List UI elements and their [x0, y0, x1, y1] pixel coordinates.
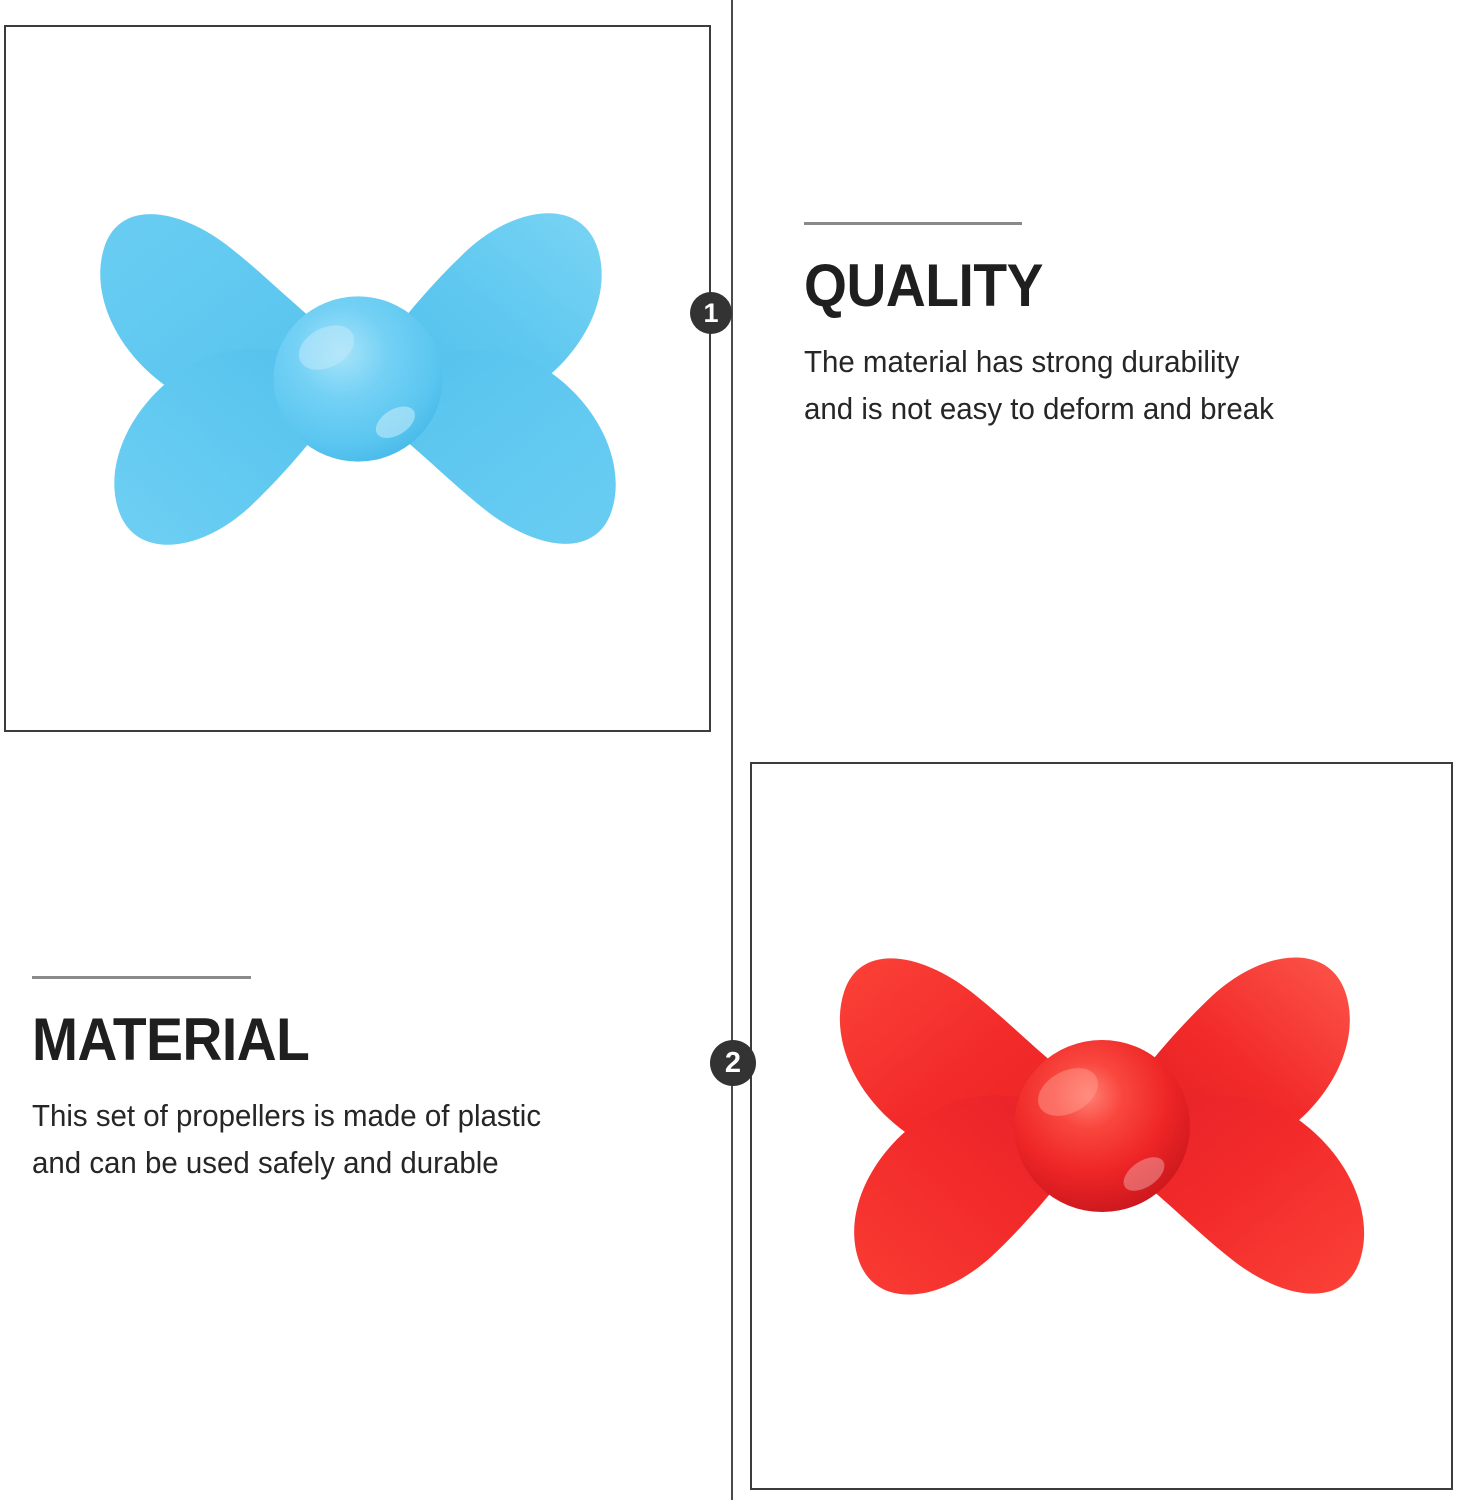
photo-stage-red — [752, 764, 1451, 1488]
feature-rule-quality — [804, 222, 1022, 225]
feature-rule-material — [32, 976, 251, 979]
feature-body-material-line-2: and can be used safely and durable — [32, 1145, 499, 1180]
photo-frame-red-propeller — [750, 762, 1453, 1490]
feature-badge-1: 1 — [690, 292, 732, 334]
red-propeller-image — [802, 826, 1402, 1426]
propeller-hub — [1014, 1040, 1190, 1212]
feature-body-quality: The material has strong durability and i… — [804, 338, 1374, 432]
feature-body-material: This set of propellers is made of plasti… — [32, 1092, 631, 1186]
photo-stage-blue — [6, 27, 709, 730]
blue-propeller-image — [63, 84, 653, 674]
connector-spine-line — [731, 0, 733, 1500]
feature-title-quality: QUALITY — [804, 255, 1356, 316]
feature-body-quality-line-1: The material has strong durability — [804, 344, 1239, 379]
feature-body-material-line-1: This set of propellers is made of plasti… — [32, 1098, 541, 1133]
feature-block-material: MATERIAL This set of propellers is made … — [32, 976, 662, 1186]
feature-block-quality: QUALITY The material has strong durabili… — [804, 222, 1404, 432]
feature-body-quality-line-2: and is not easy to deform and break — [804, 391, 1274, 426]
feature-title-material: MATERIAL — [32, 1009, 612, 1070]
feature-badge-2: 2 — [710, 1040, 756, 1086]
feature-badge-1-number: 1 — [703, 300, 718, 327]
photo-frame-blue-propeller — [4, 25, 711, 732]
infographic-page: 1 QUALITY The material has strong durabi… — [0, 0, 1459, 1500]
propeller-hub — [273, 296, 442, 461]
feature-badge-2-number: 2 — [725, 1049, 741, 1078]
